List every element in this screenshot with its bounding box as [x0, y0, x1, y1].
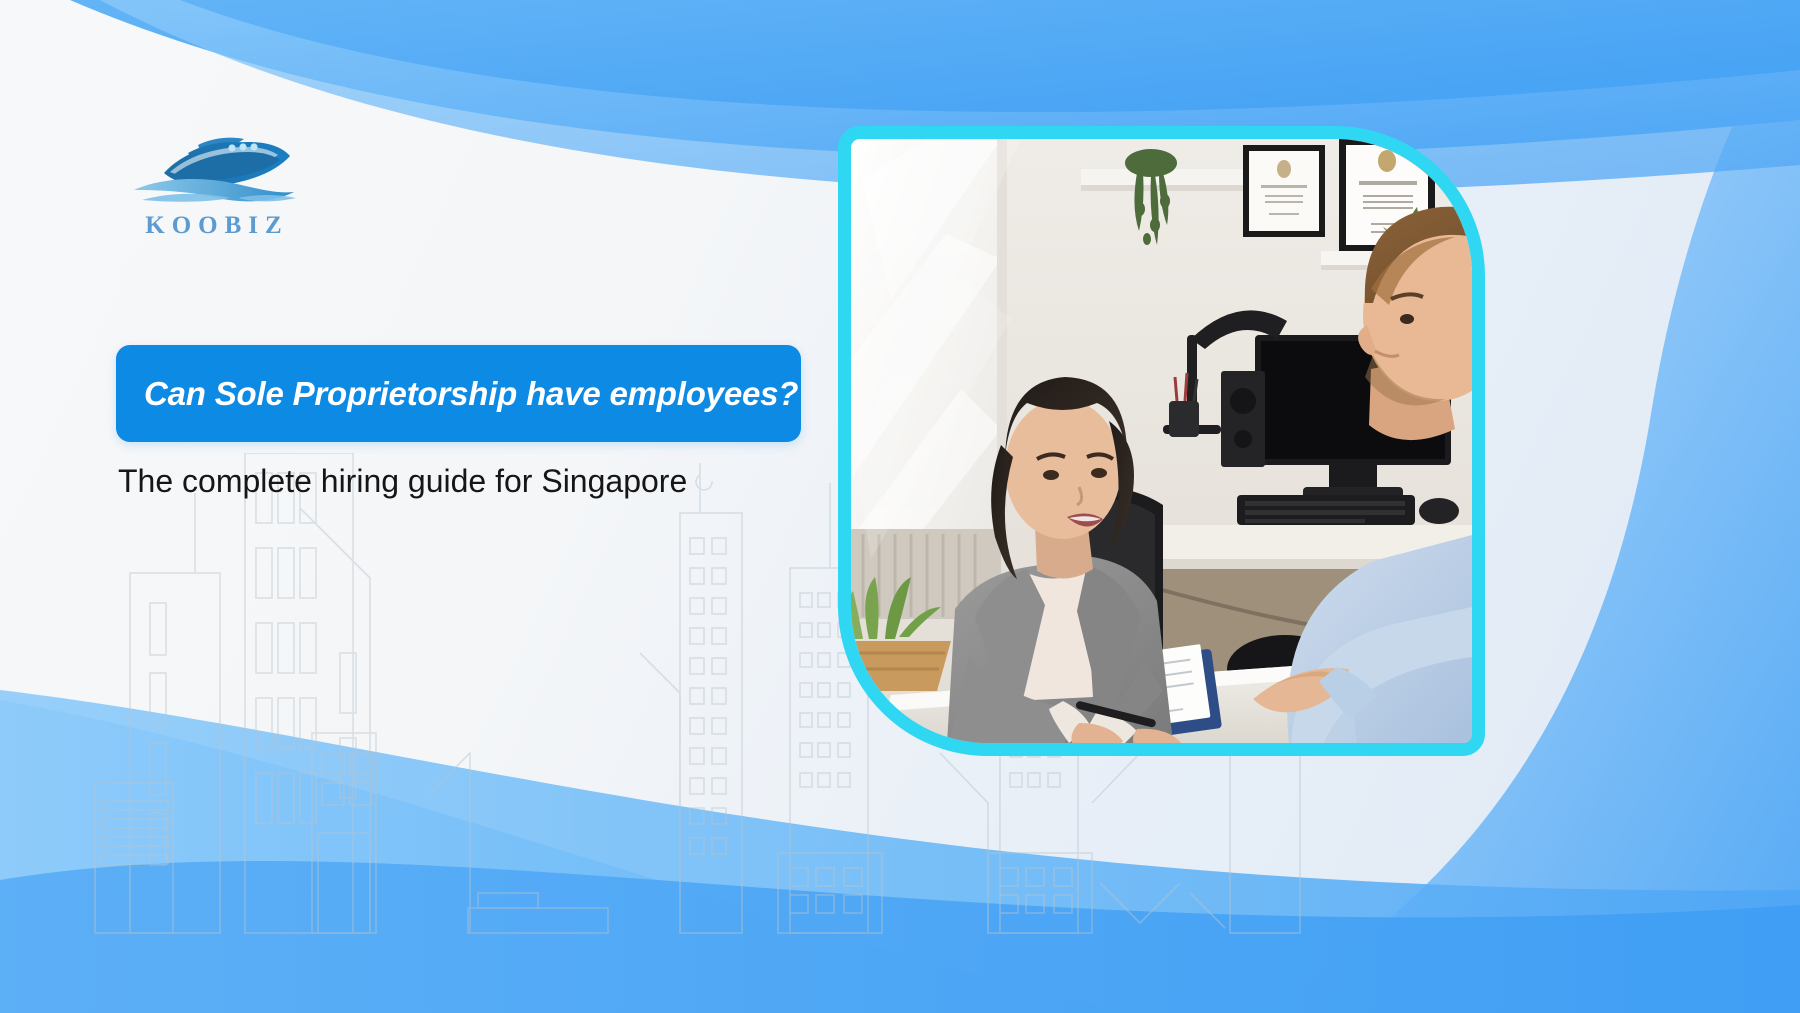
banner-canvas: KOOBIZ Can Sole Proprietorship have empl… — [0, 0, 1800, 1013]
headline-banner: Can Sole Proprietorship have employees? — [116, 345, 801, 442]
photo-frame — [838, 126, 1485, 756]
subheadline-text: The complete hiring guide for Singapore — [118, 463, 687, 500]
office-meeting-photo — [851, 139, 1472, 743]
headline-text: Can Sole Proprietorship have employees? — [144, 375, 798, 413]
brand-logo[interactable]: KOOBIZ — [112, 128, 352, 260]
ship-boat-waves-icon — [126, 128, 301, 210]
brand-wordmark: KOOBIZ — [126, 212, 301, 240]
